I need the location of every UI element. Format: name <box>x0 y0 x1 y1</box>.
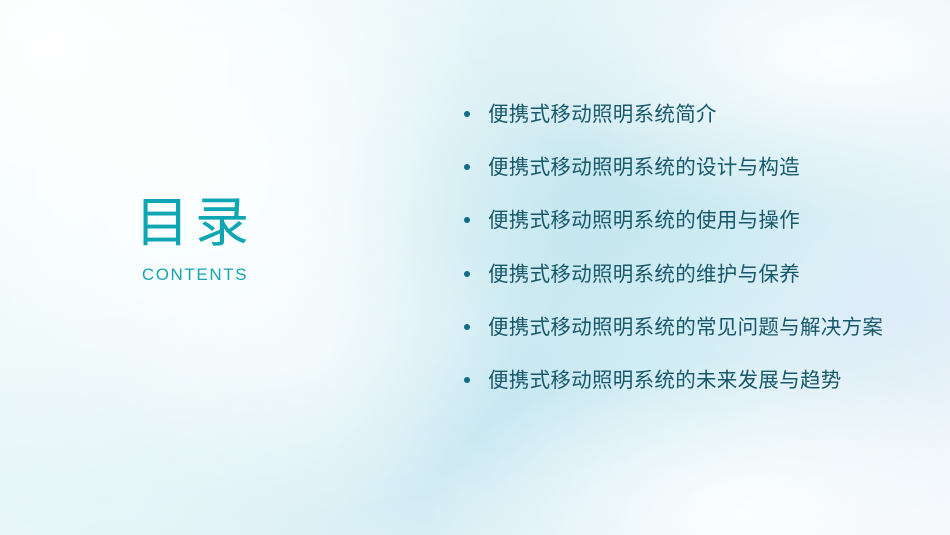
bullet-dot-icon <box>464 324 470 330</box>
list-item-label: 便携式移动照明系统简介 <box>488 103 717 126</box>
list-item[interactable]: 便携式移动照明系统的常见问题与解决方案 <box>458 311 910 344</box>
page-subtitle: CONTENTS <box>0 265 390 285</box>
list-item[interactable]: 便携式移动照明系统简介 <box>458 98 910 131</box>
contents-list: 便携式移动照明系统简介 便携式移动照明系统的设计与构造 便携式移动照明系统的使用… <box>458 98 910 397</box>
list-item[interactable]: 便携式移动照明系统的使用与操作 <box>458 204 910 237</box>
page-title: 目录 <box>0 196 390 251</box>
list-item[interactable]: 便携式移动照明系统的未来发展与趋势 <box>458 364 910 397</box>
bullet-dot-icon <box>464 111 470 117</box>
list-item-label: 便携式移动照明系统的常见问题与解决方案 <box>488 316 883 339</box>
list-item[interactable]: 便携式移动照明系统的设计与构造 <box>458 151 910 184</box>
list-item-label: 便携式移动照明系统的未来发展与趋势 <box>488 369 842 392</box>
list-item-label: 便携式移动照明系统的维护与保养 <box>488 263 800 286</box>
bullet-dot-icon <box>464 377 470 383</box>
presentation-slide: 目录 CONTENTS 便携式移动照明系统简介 便携式移动照明系统的设计与构造 … <box>0 0 950 535</box>
list-item-label: 便携式移动照明系统的使用与操作 <box>488 209 800 232</box>
bullet-dot-icon <box>464 217 470 223</box>
bullet-dot-icon <box>464 271 470 277</box>
bullet-dot-icon <box>464 164 470 170</box>
list-item-label: 便携式移动照明系统的设计与构造 <box>488 156 800 179</box>
list-item[interactable]: 便携式移动照明系统的维护与保养 <box>458 258 910 291</box>
title-block: 目录 CONTENTS <box>0 196 390 285</box>
